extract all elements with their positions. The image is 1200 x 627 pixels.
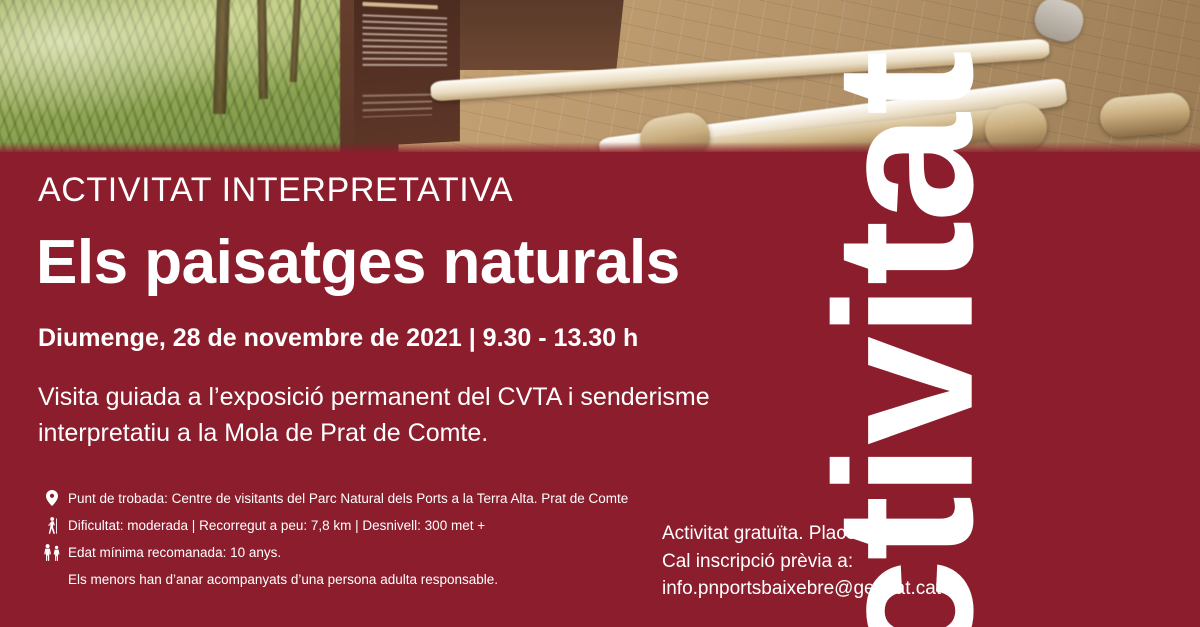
kicker-label: ACTIVITAT INTERPRETATIVA [38,171,513,210]
plaque-title-line [363,2,438,9]
list-item: Edat mínima recomanada: 10 anys. [40,543,660,562]
list-item: Dificultat: moderada | Recorregut a peu:… [40,516,660,535]
detail-difficulty: Dificultat: moderada | Recorregut a peu:… [68,516,485,535]
activity-poster: Activitat ACTIVITAT INTERPRETATIVA Els p… [0,0,1200,627]
signup-email[interactable]: info.pnportsbaixebre@gencat.cat [662,575,992,603]
poster-content: ACTIVITAT INTERPRETATIVA Els paisatges n… [0,152,1200,627]
tree-trunk [257,0,268,99]
plaque-footer-lines [363,94,433,118]
exhibition-info-plaque [354,0,460,147]
header-photo [0,0,1200,152]
hiker-icon [40,516,64,534]
detail-minors-note: Els menors han d’anar acompanyats d’una … [68,571,660,589]
page-title: Els paisatges naturals [36,227,680,298]
detail-meeting-point: Punt de trobada: Centre de visitants del… [68,489,628,508]
signup-registration-label: Cal inscripció prèvia a: [662,548,992,576]
two-people-icon [40,543,64,561]
signup-info: Activitat gratuïta. Places limitades. Ca… [662,520,992,603]
plaque-body-lines [363,14,448,68]
details-list: Punt de trobada: Centre de visitants del… [40,489,660,589]
description-text: Visita guiada a l’exposició permanent de… [38,380,728,451]
map-pin-icon [40,489,64,507]
photo-bottom-fade [0,142,1200,152]
list-item: Punt de trobada: Centre de visitants del… [40,489,660,508]
signup-free-places: Activitat gratuïta. Places limitades. [662,520,992,548]
datetime-label: Diumenge, 28 de novembre de 2021 | 9.30 … [38,324,638,353]
detail-min-age: Edat mínima recomanada: 10 anys. [68,543,281,562]
